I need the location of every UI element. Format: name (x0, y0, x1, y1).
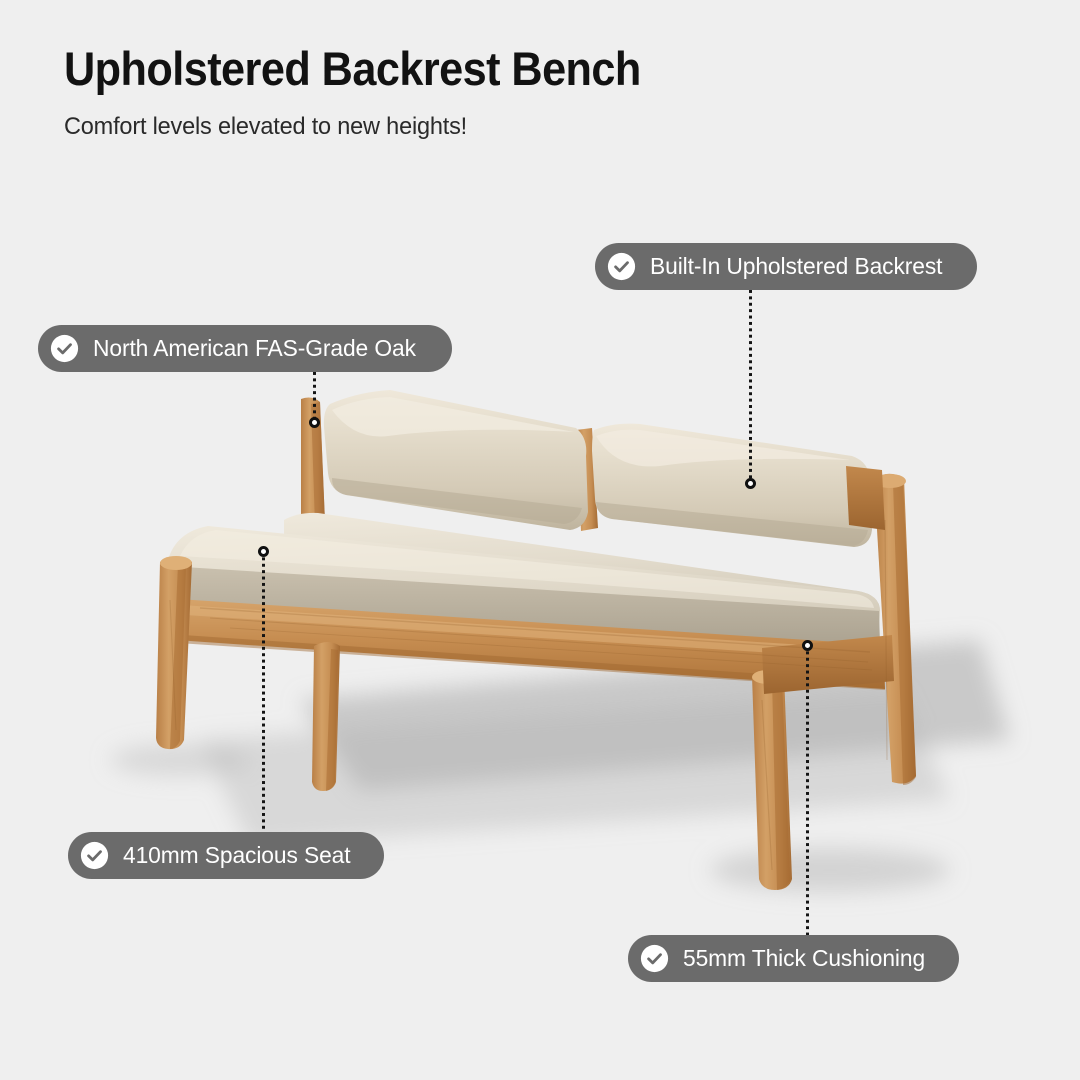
backrest-bracket-right (846, 466, 885, 530)
feature-pill-cushion[interactable]: 55mm Thick Cushioning (628, 935, 959, 982)
check-circle-icon (50, 334, 79, 363)
product-infographic: Upholstered Backrest Bench Comfort level… (0, 0, 1080, 1080)
leg-front-left (156, 556, 192, 749)
leader-dot-seat (258, 546, 269, 557)
leg-mid-left (312, 642, 340, 791)
feature-pill-oak[interactable]: North American FAS-Grade Oak (38, 325, 452, 372)
feature-pill-seat[interactable]: 410mm Spacious Seat (68, 832, 384, 879)
leader-line-seat (262, 551, 265, 832)
backrest-cushion-right (592, 424, 872, 547)
feature-pill-label: Built-In Upholstered Backrest (650, 253, 942, 280)
feature-pill-label: 55mm Thick Cushioning (683, 945, 925, 972)
check-circle-icon (640, 944, 669, 973)
leader-line-oak (313, 372, 316, 422)
leader-line-cushion (806, 645, 809, 935)
leader-dot-backrest (745, 478, 756, 489)
feature-pill-label: 410mm Spacious Seat (123, 842, 351, 869)
check-circle-icon (80, 841, 109, 870)
backrest-cushion-left (324, 390, 588, 530)
product-image (0, 0, 1080, 1080)
leader-dot-oak (309, 417, 320, 428)
feature-pill-backrest[interactable]: Built-In Upholstered Backrest (595, 243, 977, 290)
feature-pill-label: North American FAS-Grade Oak (93, 335, 416, 362)
leader-line-backrest (749, 290, 752, 483)
bench-illustration (0, 0, 1080, 1080)
leader-dot-cushion (802, 640, 813, 651)
check-circle-icon (607, 252, 636, 281)
